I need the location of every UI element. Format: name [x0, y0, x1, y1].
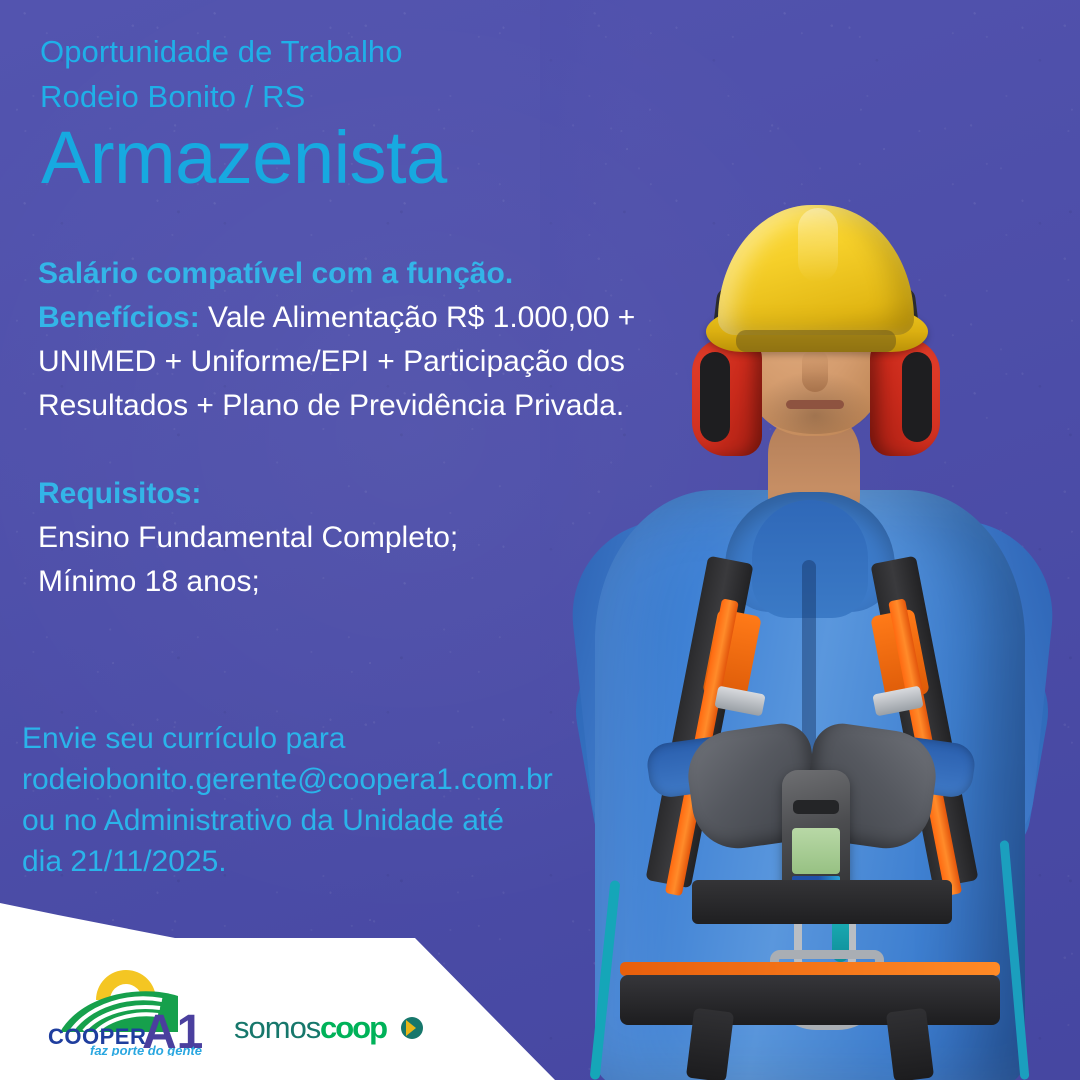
- contact-alternative: ou no Administrativo da Unidade até: [22, 800, 642, 841]
- nose: [802, 350, 828, 392]
- contact-instruction: Envie seu currículo para: [22, 718, 642, 759]
- harness-waist-strap: [692, 880, 952, 924]
- gas-detector-screen: [792, 828, 840, 874]
- salary-benefits-block: Salário compatível com a função. Benefíc…: [38, 252, 698, 428]
- job-posting-poster: Oportunidade de Trabalho Rodeio Bonito /…: [0, 0, 1080, 1080]
- salary-line: Salário compatível com a função.: [38, 252, 698, 296]
- earmuff-pad-right: [902, 352, 932, 442]
- leg-strap-left: [686, 1008, 734, 1080]
- requirements-block: Requisitos: Ensino Fundamental Completo;…: [38, 472, 698, 604]
- coop-wordmark: coop: [320, 1010, 387, 1045]
- job-title: Armazenista: [41, 116, 447, 200]
- cooper-a1-logo: COOPER A1 faz porte do gente: [38, 952, 228, 1056]
- coop-circle-icon: [401, 1017, 423, 1039]
- somoscoop-logo: somos coop: [234, 1006, 430, 1050]
- benefits-label: Benefícios:: [38, 301, 200, 334]
- leg-strap-right: [886, 1008, 934, 1080]
- harness-belt-orange: [620, 962, 1000, 976]
- somos-wordmark: somos: [234, 1010, 321, 1045]
- hard-hat-band: [736, 330, 896, 352]
- contact-email[interactable]: rodeiobonito.gerente@coopera1.com.br: [22, 759, 642, 800]
- requirement-item: Mínimo 18 anos;: [38, 560, 698, 604]
- contact-block: Envie seu currículo para rodeiobonito.ge…: [22, 718, 642, 882]
- gas-detector-buttons: [793, 800, 839, 814]
- kicker-line-location: Rodeio Bonito / RS: [40, 77, 305, 117]
- kicker-line-opportunity: Oportunidade de Trabalho: [40, 32, 403, 72]
- requirement-item: Ensino Fundamental Completo;: [38, 516, 698, 560]
- mouth: [786, 400, 844, 409]
- hard-hat-highlight: [798, 208, 838, 282]
- cooper-tagline: faz porte do gente: [90, 1043, 202, 1056]
- earmuff-pad-left: [700, 352, 730, 442]
- requirements-label: Requisitos:: [38, 472, 698, 516]
- harness-belt: [620, 975, 1000, 1025]
